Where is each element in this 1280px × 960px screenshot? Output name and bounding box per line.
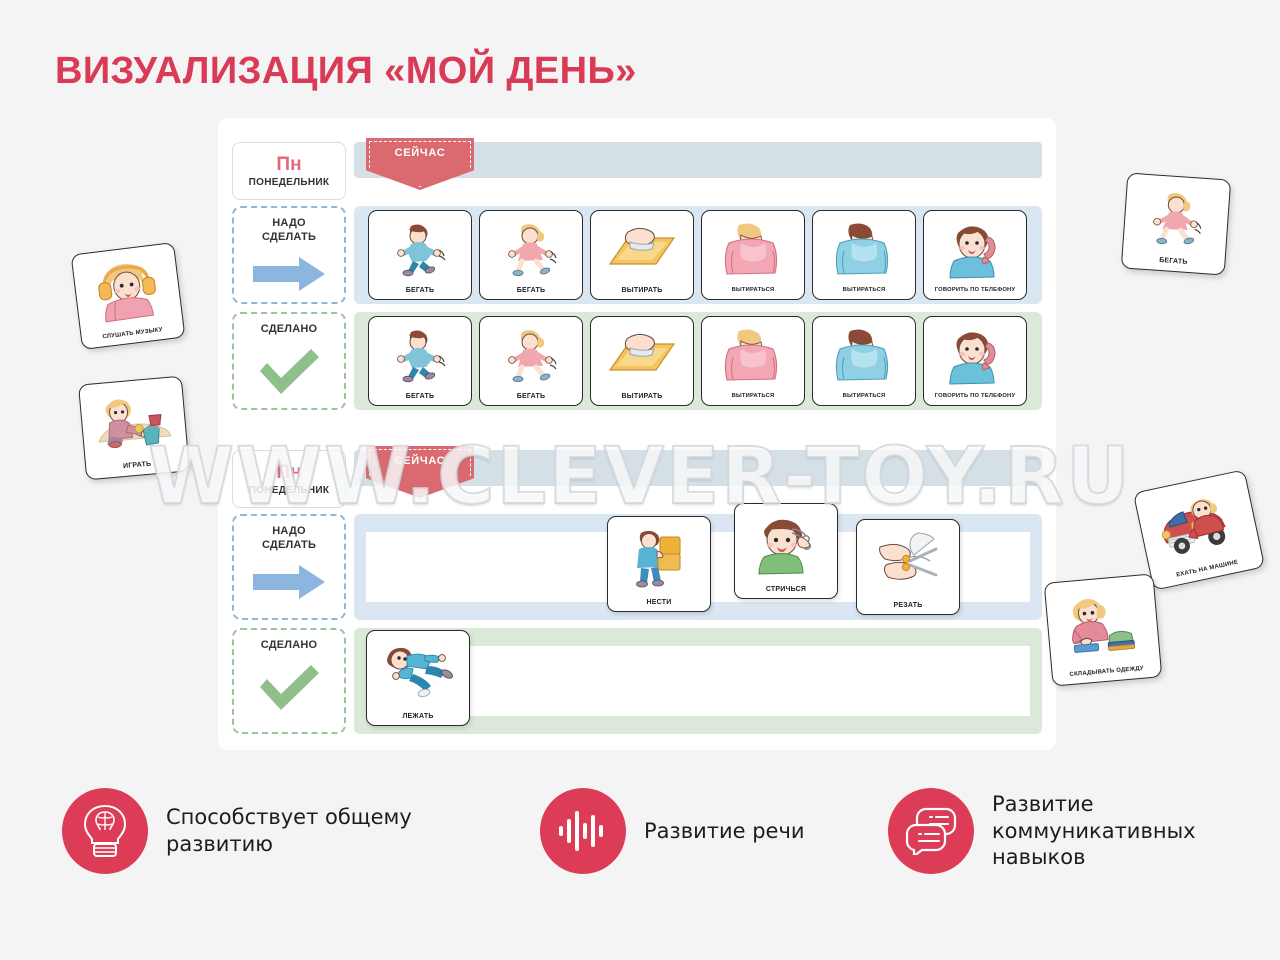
picto-caption: РЕЗАТЬ <box>857 602 959 614</box>
now-marker[interactable]: СЕЙЧАС <box>366 138 474 190</box>
done-label: СДЕЛАНО <box>261 323 318 337</box>
picto-card[interactable]: БЕГАТЬ <box>479 210 583 300</box>
picto-card[interactable]: ВЫТИРАТЬСЯ <box>812 316 916 406</box>
done-card-list: БЕГАТЬ <box>368 316 1027 406</box>
feature-label: Развитие речи <box>644 818 805 845</box>
picto-card[interactable]: ВЫТИРАТЬСЯ <box>701 210 805 300</box>
loose-card-listen-music[interactable]: СЛУШАТЬ МУЗЫКУ <box>71 242 186 350</box>
picto-caption: СТРИЧЬСЯ <box>735 586 837 598</box>
boy-blue-towel-art <box>813 211 915 288</box>
done-label-box: СДЕЛАНО <box>232 628 346 734</box>
placed-card-cut[interactable]: РЕЗАТЬ <box>856 519 960 615</box>
sound-wave-icon <box>540 788 626 874</box>
picto-card[interactable]: ГОВОРИТЬ ПО ТЕЛЕФОНУ <box>923 316 1027 406</box>
loose-card-fold-clothes[interactable]: СКЛАДЫВАТЬ ОДЕЖДУ <box>1044 573 1163 686</box>
poster-page: ВИЗУАЛИЗАЦИЯ «МОЙ ДЕНЬ» Пн ПОНЕДЕЛЬНИК С… <box>0 0 1280 960</box>
day-abbreviation: Пн <box>276 463 301 482</box>
check-icon <box>254 661 324 718</box>
hand-wiping-table-art <box>591 211 693 287</box>
boy-phone-art <box>924 211 1026 288</box>
boy-running-art <box>369 211 471 287</box>
picto-card[interactable]: ВЫТИРАТЬ <box>590 316 694 406</box>
now-marker-label: СЕЙЧАС <box>395 455 446 467</box>
hands-scissors-paper-art <box>857 520 959 602</box>
picto-card[interactable]: СТРИЧЬСЯ <box>734 503 838 599</box>
boy-carrying-boxes-art <box>608 517 710 599</box>
todo-label-line1: НАДО <box>272 217 306 231</box>
girl-sandbox-art <box>79 377 188 467</box>
day-card[interactable]: Пн ПОНЕДЕЛЬНИК <box>232 450 346 508</box>
hand-wiping-table-art <box>591 317 693 393</box>
girl-folding-clothes-art <box>1045 574 1160 673</box>
todo-label-line2: СДЕЛАТЬ <box>262 539 316 553</box>
feature-item: Развитие коммуникативных навыков <box>888 788 1242 874</box>
girl-pink-towel-art <box>702 211 804 288</box>
picto-caption: ВЫТИРАТЬ <box>591 287 693 299</box>
picto-card[interactable]: ВЫТИРАТЬСЯ <box>701 316 805 406</box>
page-title: ВИЗУАЛИЗАЦИЯ «МОЙ ДЕНЬ» <box>55 50 637 93</box>
feature-list: Способствует общему развитию Развитие ре… <box>0 778 1280 918</box>
boy-blue-towel-art <box>813 317 915 394</box>
picto-caption: ВЫТИРАТЬСЯ <box>813 394 915 405</box>
day-full-name: ПОНЕДЕЛЬНИК <box>249 485 330 496</box>
girl-headphones-art <box>72 243 183 337</box>
placed-card-haircut[interactable]: СТРИЧЬСЯ <box>734 503 838 599</box>
done-label: СДЕЛАНО <box>261 639 318 653</box>
todo-label-line2: СДЕЛАТЬ <box>262 231 316 245</box>
day-full-name: ПОНЕДЕЛЬНИК <box>249 177 330 188</box>
picto-caption: БЕГАТЬ <box>369 287 471 299</box>
loose-card-run[interactable]: БЕГАТЬ <box>1121 172 1231 275</box>
picto-caption: ГОВОРИТЬ ПО ТЕЛЕФОНУ <box>924 288 1026 299</box>
day-abbreviation: Пн <box>276 155 301 174</box>
done-label-box: СДЕЛАНО <box>232 312 346 410</box>
picto-caption: ЛЕЖАТЬ <box>367 713 469 725</box>
picto-caption: БЕГАТЬ <box>480 393 582 405</box>
picto-card[interactable]: РЕЗАТЬ <box>856 519 960 615</box>
schedule-board-monday-filled: Пн ПОНЕДЕЛЬНИК СЕЙЧАС НАДО СДЕЛАТЬ <box>218 128 1056 428</box>
now-marker-label: СЕЙЧАС <box>395 147 446 159</box>
feature-item: Способствует общему развитию <box>62 788 416 874</box>
picto-card[interactable]: БЕГАТЬ <box>479 316 583 406</box>
loose-card-play[interactable]: ИГРАТЬ <box>78 376 190 481</box>
day-card[interactable]: Пн ПОНЕДЕЛЬНИК <box>232 142 346 200</box>
todo-label-box: НАДО СДЕЛАТЬ <box>232 514 346 620</box>
schedule-board-monday-empty: Пн ПОНЕДЕЛЬНИК СЕЙЧАС НАДО СДЕЛАТЬ <box>218 436 1056 746</box>
picto-card[interactable]: ГОВОРИТЬ ПО ТЕЛЕФОНУ <box>923 210 1027 300</box>
picto-caption: ГОВОРИТЬ ПО ТЕЛЕФОНУ <box>924 394 1026 405</box>
boy-haircut-art <box>735 504 837 586</box>
boy-running-art <box>369 317 471 393</box>
speech-bubbles-icon <box>888 788 974 874</box>
picto-card[interactable]: ВЫТИРАТЬСЯ <box>812 210 916 300</box>
picto-card[interactable]: НЕСТИ <box>607 516 711 612</box>
todo-card-list: БЕГАТЬ <box>368 210 1027 300</box>
todo-row: БЕГАТЬ <box>354 206 1042 304</box>
picto-caption: БЕГАТЬ <box>369 393 471 405</box>
feature-label: Способствует общему развитию <box>166 804 416 858</box>
girl-running-art <box>480 211 582 287</box>
todo-label-box: НАДО СДЕЛАТЬ <box>232 206 346 304</box>
placed-card-lying[interactable]: ЛЕЖАТЬ <box>366 630 470 726</box>
girl-running-art <box>1123 174 1230 262</box>
boy-lying-art <box>367 631 469 713</box>
placed-card-carry[interactable]: НЕСТИ <box>607 516 711 612</box>
arrow-right-icon <box>251 563 327 606</box>
todo-label-line1: НАДО <box>272 525 306 539</box>
picto-caption: ВЫТИРАТЬСЯ <box>702 394 804 405</box>
brain-bulb-icon <box>62 788 148 874</box>
picto-caption: НЕСТИ <box>608 599 710 611</box>
done-row: БЕГАТЬ <box>354 312 1042 410</box>
loose-card-ride-car[interactable]: ЕХАТЬ НА МАШИНЕ <box>1133 469 1265 591</box>
picto-card[interactable]: БЕГАТЬ <box>368 316 472 406</box>
arrow-right-icon <box>251 255 327 298</box>
picto-caption: ВЫТИРАТЬ <box>591 393 693 405</box>
now-marker[interactable]: СЕЙЧАС <box>366 446 474 498</box>
feature-item: Развитие речи <box>540 788 805 874</box>
feature-label: Развитие коммуникативных навыков <box>992 791 1242 872</box>
picto-card[interactable]: ВЫТИРАТЬ <box>590 210 694 300</box>
girl-pink-towel-art <box>702 317 804 394</box>
girl-running-art <box>480 317 582 393</box>
picto-card[interactable]: БЕГАТЬ <box>368 210 472 300</box>
schedule-panel: Пн ПОНЕДЕЛЬНИК СЕЙЧАС НАДО СДЕЛАТЬ <box>218 118 1056 750</box>
boy-phone-art <box>924 317 1026 394</box>
picto-card[interactable]: ЛЕЖАТЬ <box>366 630 470 726</box>
check-icon <box>254 345 324 402</box>
picto-caption: ВЫТИРАТЬСЯ <box>702 288 804 299</box>
picto-caption: ВЫТИРАТЬСЯ <box>813 288 915 299</box>
picto-caption: БЕГАТЬ <box>480 287 582 299</box>
